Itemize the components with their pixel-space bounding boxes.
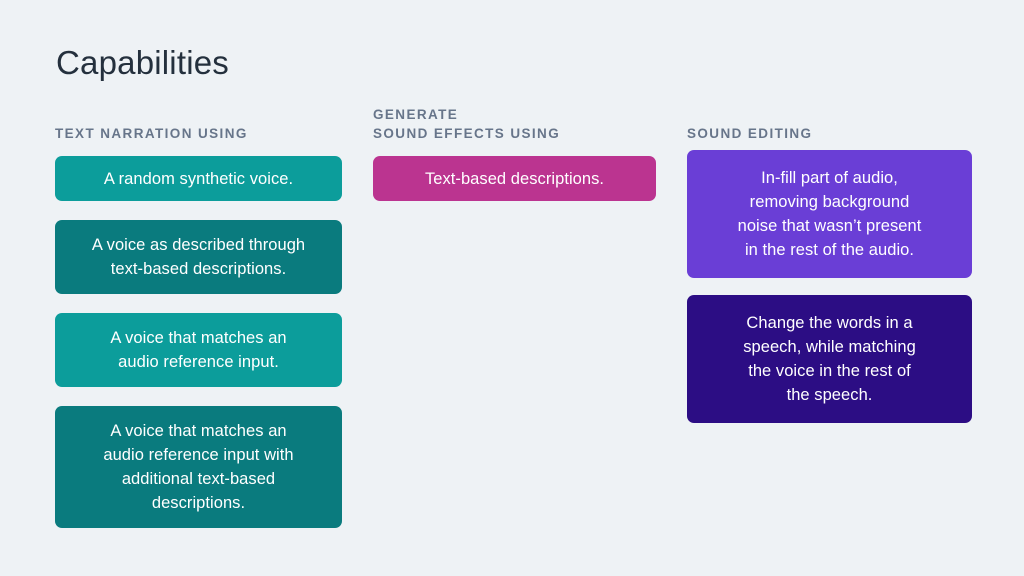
capability-card[interactable]: A voice as described through text-based …	[55, 220, 342, 294]
capability-card[interactable]: A random synthetic voice.	[55, 156, 342, 201]
card-list-text-narration: A random synthetic voice. A voice as des…	[55, 156, 355, 528]
page-title: Capabilities	[56, 42, 229, 84]
column-text-narration: TEXT NARRATION USING A random synthetic …	[55, 105, 355, 528]
capability-card[interactable]: A voice that matches an audio reference …	[55, 406, 342, 528]
column-sound-editing: SOUND EDITING In-fill part of audio, rem…	[687, 105, 987, 423]
capability-card[interactable]: A voice that matches an audio reference …	[55, 313, 342, 387]
capability-card[interactable]: Change the words in a speech, while matc…	[687, 295, 972, 423]
capability-card[interactable]: Text-based descriptions.	[373, 156, 656, 201]
slide-canvas: Capabilities TEXT NARRATION USING A rand…	[0, 0, 1024, 576]
card-list-sound-effects: Text-based descriptions.	[373, 156, 673, 201]
capability-card[interactable]: In-fill part of audio, removing backgrou…	[687, 150, 972, 278]
column-header-sound-editing: SOUND EDITING	[687, 105, 987, 143]
column-header-text-narration: TEXT NARRATION USING	[55, 105, 355, 143]
column-sound-effects: GENERATE SOUND EFFECTS USING Text-based …	[373, 105, 673, 201]
column-header-sound-effects: GENERATE SOUND EFFECTS USING	[373, 105, 673, 143]
card-list-sound-editing: In-fill part of audio, removing backgrou…	[687, 150, 987, 423]
